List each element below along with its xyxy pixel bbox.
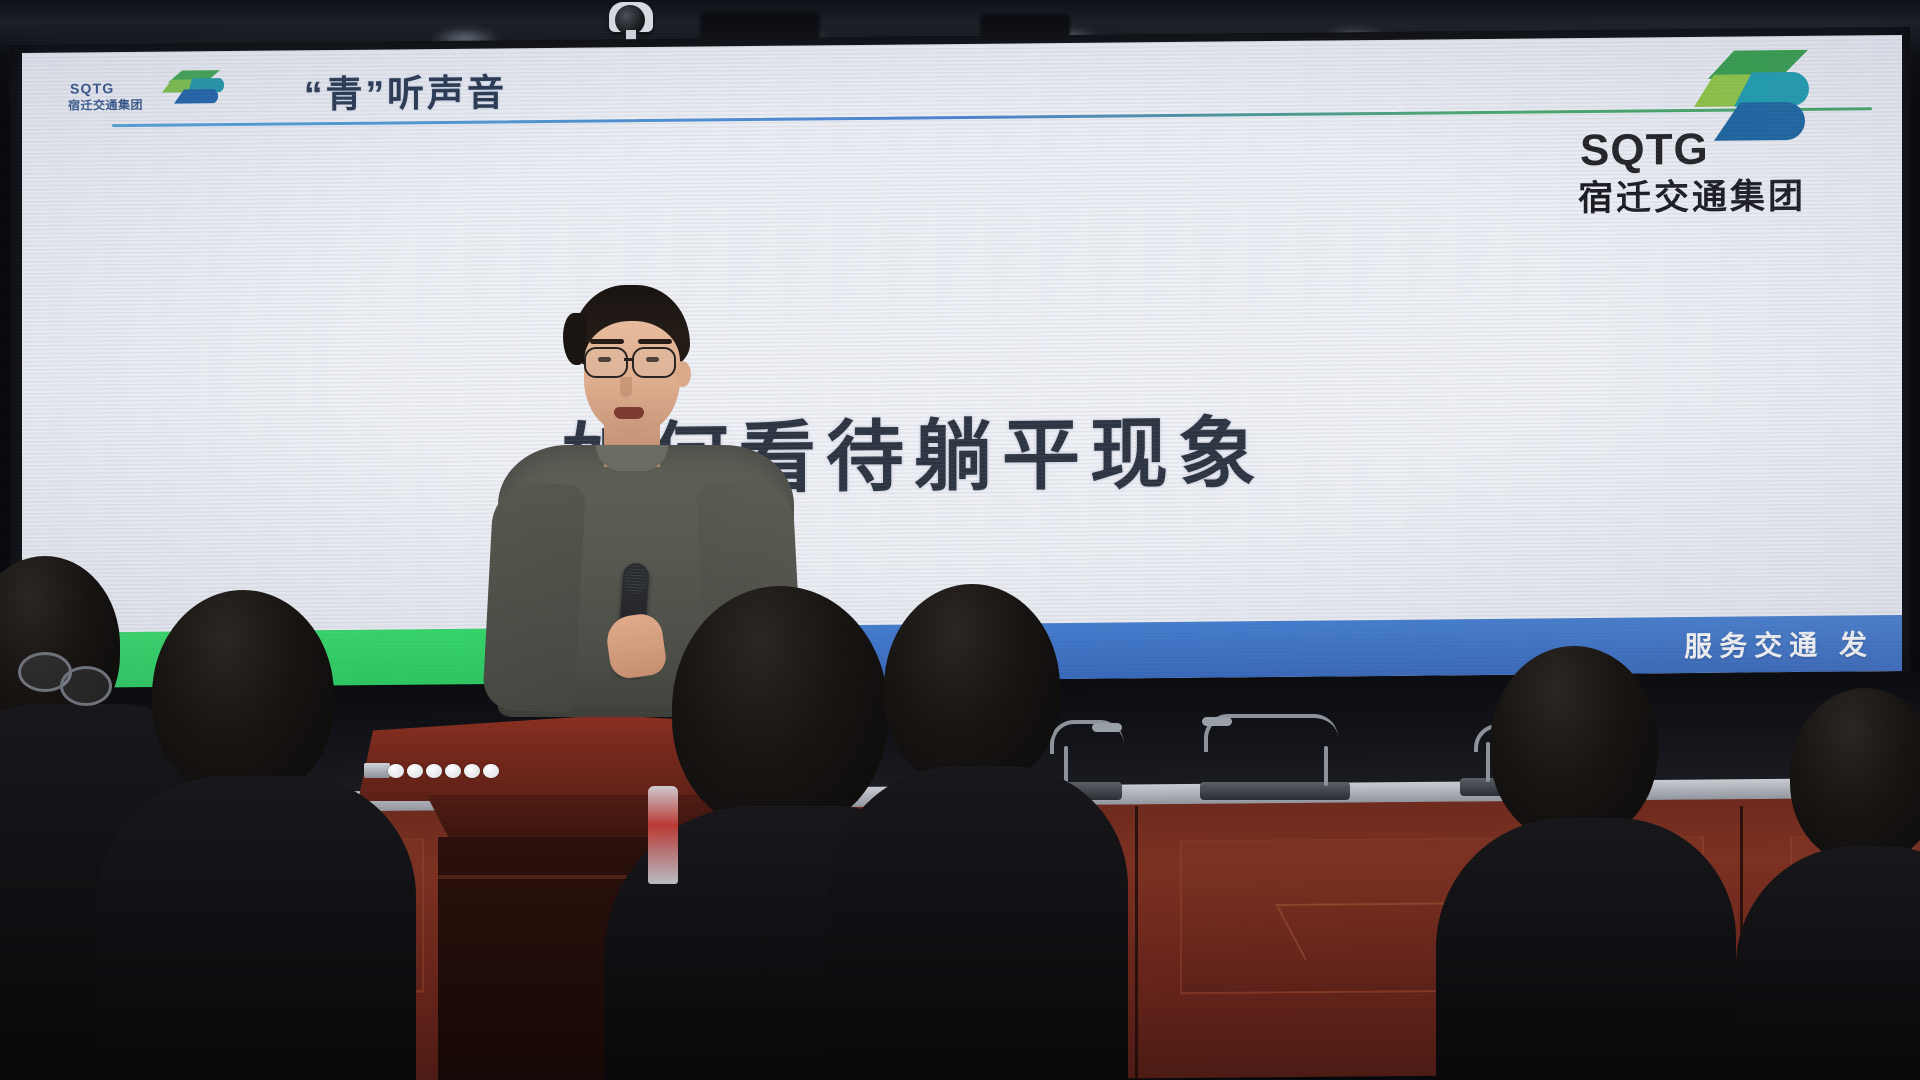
presenter-eyebrow [638, 339, 672, 344]
header-brand-en: SQTG [70, 80, 114, 96]
sqtg-s-mark-icon [162, 67, 224, 106]
screenshot-root: SQTG 宿迁交通集团 “青”听声音 SQTG 宿迁交通集团 如何看待躺平现象 … [0, 0, 1920, 1080]
audience-shoulders [96, 776, 416, 1080]
audience-head [884, 584, 1060, 790]
sqtg-s-mark-large-icon [1694, 46, 1814, 143]
audience-eyeglasses [60, 666, 112, 706]
podium-control-buttons[interactable] [388, 763, 518, 779]
corner-brand-logo: SQTG 宿迁交通集团 [1562, 46, 1822, 198]
audience-shoulders [828, 766, 1128, 1080]
corner-brand-cn: 宿迁交通集团 [1578, 168, 1806, 221]
gooseneck-microphone [1200, 690, 1400, 800]
audience-head [1490, 646, 1658, 842]
slide-header-title: “青”听声音 [304, 62, 507, 118]
presenter-nose [620, 377, 632, 397]
header-brand-logo: SQTG 宿迁交通集团 [64, 67, 224, 117]
podium-name-plate [364, 763, 390, 778]
slide-footer-slogan: 服务交通 发 [1684, 623, 1874, 665]
presenter-left-arm [482, 481, 586, 714]
audience-head [672, 586, 888, 832]
audience-head [152, 590, 334, 800]
header-brand-cn: 宿迁交通集团 [68, 96, 143, 114]
presenter-eyeglasses [584, 347, 686, 375]
desk-seam [1135, 806, 1138, 1080]
water-bottle [648, 786, 678, 884]
presenter-mouth [614, 407, 644, 419]
presenter-eyebrow [590, 339, 624, 344]
audience-shoulders [1436, 818, 1736, 1080]
